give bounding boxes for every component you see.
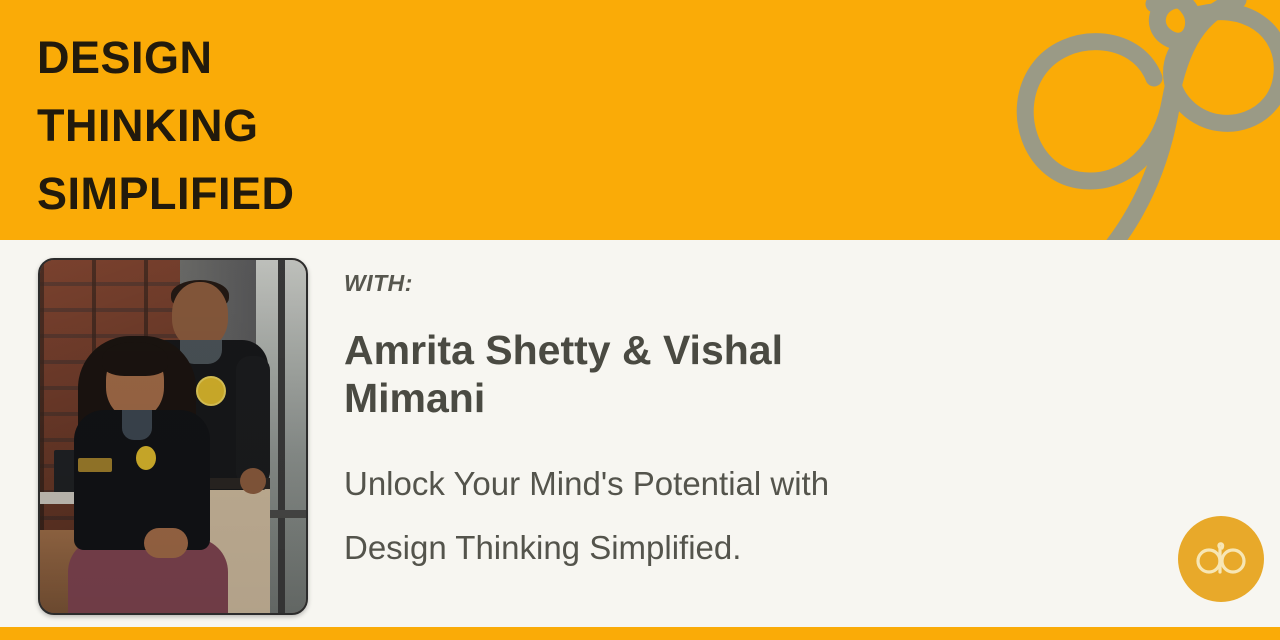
tagline-line-2: Design Thinking Simplified. [344, 516, 1024, 580]
title-line-2: THINKING [37, 92, 737, 160]
swirl-decoration-icon [986, 0, 1280, 240]
photo-tint [40, 260, 306, 613]
banner-header: DESIGN THINKING SIMPLIFIED [0, 0, 1280, 240]
page-title: DESIGN THINKING SIMPLIFIED [37, 24, 737, 228]
banner-body: WITH: Amrita Shetty & Vishal Mimani Unlo… [0, 240, 1280, 627]
speaker-names: Amrita Shetty & Vishal Mimani [344, 326, 844, 422]
with-label: WITH: [344, 270, 413, 297]
speakers-photo [38, 258, 308, 615]
tagline-line-1: Unlock Your Mind's Potential with [344, 452, 1024, 516]
title-line-3: SIMPLIFIED [37, 160, 737, 228]
event-banner: DESIGN THINKING SIMPLIFIED [0, 0, 1280, 640]
tagline: Unlock Your Mind's Potential with Design… [344, 452, 1024, 580]
brand-logo [1178, 516, 1264, 602]
photo-scene [40, 260, 306, 613]
title-line-1: DESIGN [37, 24, 737, 92]
bottom-accent-bar [0, 627, 1280, 640]
ab-monogram-icon [1192, 539, 1250, 579]
